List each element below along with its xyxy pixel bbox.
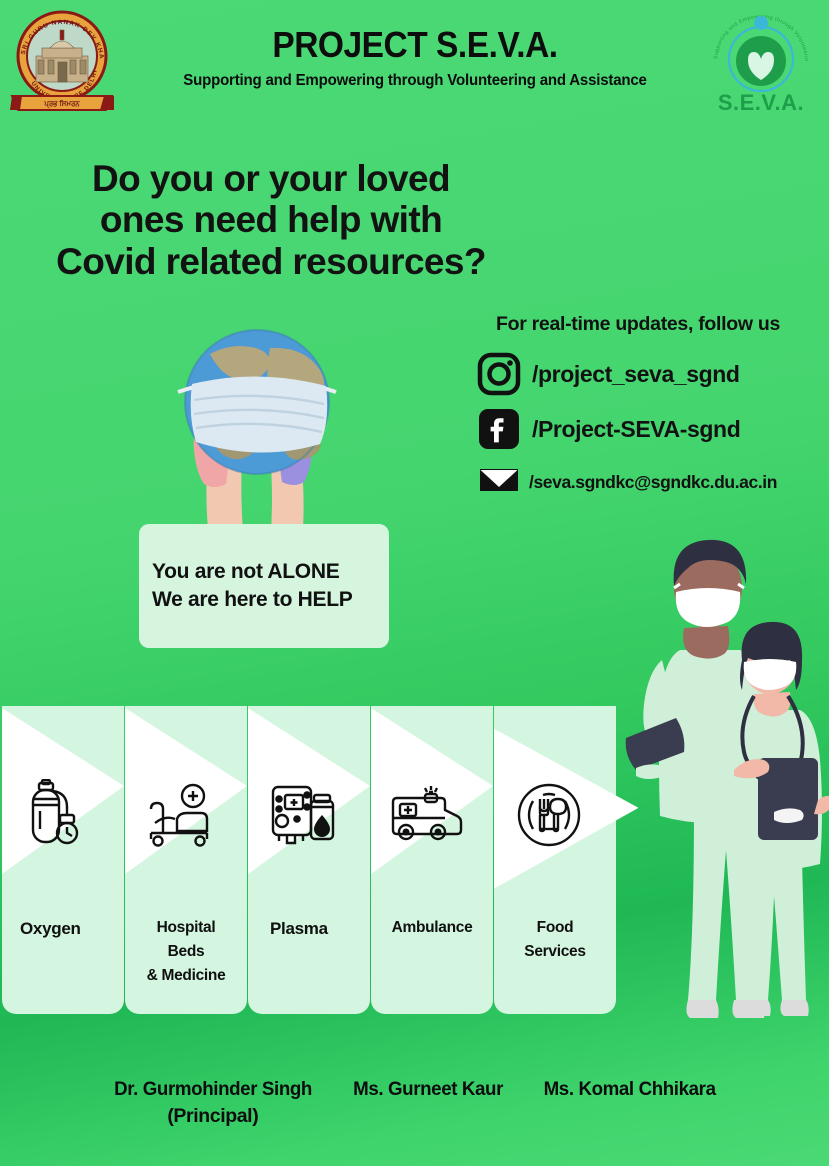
ambulance-icon [371,772,481,858]
service-label-line-1: Hospital [125,916,247,940]
facebook-handle[interactable]: /Project-SEVA-sgnd [532,416,740,443]
service-label-line-2: Services [494,940,616,964]
poster-title: PROJECT S.E.V.A. [150,26,680,64]
plasma-machine-icon [248,772,358,858]
social-heading: For real-time updates, follow us [452,313,824,336]
service-card-plasma[interactable]: Plasma [248,694,370,1014]
message-line-2: We are here to HELP [152,586,389,614]
title-block: PROJECT S.E.V.A. Supporting and Empoweri… [130,26,700,90]
service-label-line-2: Beds [125,940,247,964]
headline: Do you or your loved ones need help with… [36,158,506,282]
email-icon[interactable] [477,462,521,502]
service-card-label: Ambulance [371,916,493,940]
college-logo: SRI GURU NANAK DEV KHALSA COLLEGE UNIVER… [8,4,116,114]
facebook-icon[interactable] [477,407,521,451]
poster-footer: Dr. Gurmohinder Singh (Principal) Ms. Gu… [0,1066,829,1156]
reassurance-message-card: You are not ALONE We are here to HELP [139,524,389,648]
service-label-line-1: Ambulance [392,919,473,936]
headline-line-2: ones need help with [36,199,506,240]
social-links-block: For real-time updates, follow us /projec… [452,313,824,502]
message-line-1: You are not ALONE [152,558,389,586]
footer-person-third: Ms. Komal Chhikara [540,1078,719,1101]
email-handle[interactable]: /seva.sgndkc@sgndkc.du.ac.in [529,472,777,493]
poster-tagline: Supporting and Empowering through Volunt… [139,72,692,90]
instagram-icon[interactable] [477,352,521,396]
headline-line-3: Covid related resources? [36,241,506,282]
headline-line-1: Do you or your loved [36,158,506,199]
social-row-email[interactable]: /seva.sgndkc@sgndkc.du.ac.in [452,462,824,502]
services-row: Oxygen [0,694,829,1014]
service-card-hospital-beds[interactable]: Hospital Beds & Medicine [125,694,247,1014]
oxygen-cylinder-icon [2,772,112,858]
service-card-label: Oxygen [2,916,124,942]
footer-role: (Principal) [110,1105,316,1128]
service-card-label: Food Services [494,916,616,964]
poster-header: SRI GURU NANAK DEV KHALSA COLLEGE UNIVER… [0,0,829,120]
seva-logo: Supporting and Empowering through Volunt… [701,4,821,116]
service-card-oxygen[interactable]: Oxygen [2,694,124,1014]
seva-wordmark: S.E.V.A. [718,90,804,115]
social-row-facebook[interactable]: /Project-SEVA-sgnd [452,407,824,451]
globe-with-mask-illustration [150,320,365,545]
service-card-label: Hospital Beds & Medicine [125,916,247,988]
service-card-ambulance[interactable]: Ambulance [371,694,493,1014]
service-card-food-services[interactable]: Food Services [494,694,616,1014]
footer-name: Dr. Gurmohinder Singh [114,1078,312,1101]
svg-text:ਪ੍ਰਭ ਸਿਮਰਨ: ਪ੍ਰਭ ਸਿਮਰਨ [43,99,80,109]
footer-name: Ms. Gurneet Kaur [353,1078,503,1101]
service-card-label: Plasma [248,916,370,942]
footer-person-second: Ms. Gurneet Kaur [350,1078,506,1101]
service-label-line-1: Food [494,916,616,940]
service-label-line-3: & Medicine [125,964,247,988]
social-row-instagram[interactable]: /project_seva_sgnd [452,352,824,396]
footer-name: Ms. Komal Chhikara [544,1078,716,1101]
service-label-line-1: Oxygen [20,919,81,938]
poster-root: SRI GURU NANAK DEV KHALSA COLLEGE UNIVER… [0,0,829,1166]
food-plate-icon [494,772,604,858]
instagram-handle[interactable]: /project_seva_sgnd [532,361,740,388]
hospital-bed-icon [125,772,235,858]
footer-person-principal: Dr. Gurmohinder Singh (Principal) [110,1078,316,1128]
service-label-line-1: Plasma [270,919,328,938]
